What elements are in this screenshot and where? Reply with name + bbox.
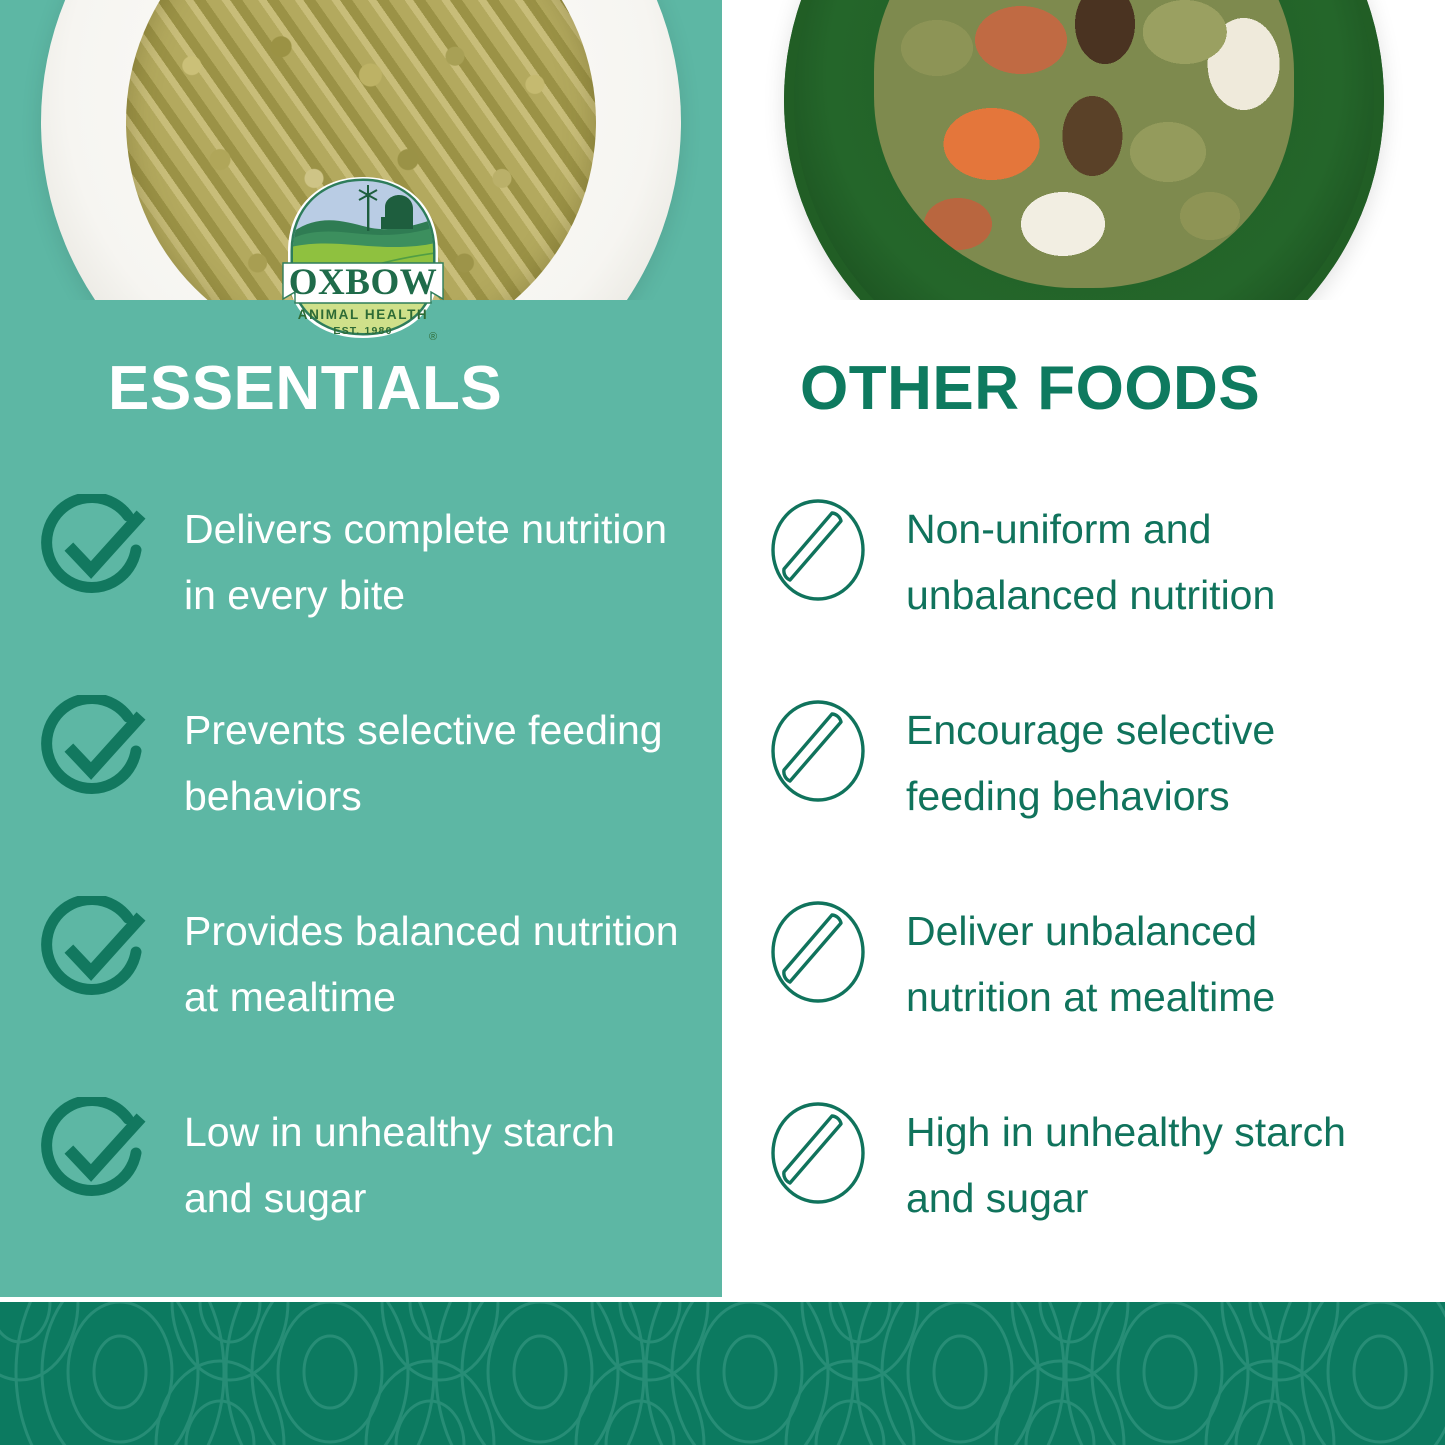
check-circle-icon: [40, 695, 152, 807]
list-item-label: Deliver unbalanced nutrition at mealtime: [906, 898, 1402, 1031]
list-item: Delivers complete nutrition in every bit…: [40, 492, 680, 693]
logo-established: EST. 1980: [333, 325, 392, 337]
list-item-label: Non-uniform and unbalanced nutrition: [906, 496, 1402, 629]
essentials-heading: ESSENTIALS: [108, 358, 502, 420]
photo-row: [0, 0, 1445, 300]
prohibition-icon: [762, 695, 874, 807]
list-item-label: Encourage selective feeding behaviors: [906, 697, 1402, 830]
logo-wordmark: OXBOW: [289, 262, 437, 303]
other-foods-photo: [723, 0, 1445, 300]
prohibition-icon: [762, 1097, 874, 1209]
list-item-label: High in unhealthy starch and sugar: [906, 1099, 1402, 1232]
list-item-label: Low in unhealthy starch and sugar: [184, 1099, 680, 1232]
check-circle-icon: [40, 494, 152, 606]
prohibition-icon: [762, 494, 874, 606]
oxbow-logo: OXBOW ANIMAL HEALTH EST. 1980 ®: [281, 177, 445, 349]
list-item: High in unhealthy starch and sugar: [762, 1095, 1402, 1296]
list-item: Low in unhealthy starch and sugar: [40, 1095, 680, 1296]
registered-mark-icon: ®: [429, 331, 437, 343]
list-item-label: Provides balanced nutrition at mealtime: [184, 898, 680, 1031]
essentials-list: Delivers complete nutrition in every bit…: [40, 492, 680, 1296]
list-item: Deliver unbalanced nutrition at mealtime: [762, 894, 1402, 1095]
bottom-pattern-band: [0, 1302, 1445, 1445]
check-circle-icon: [40, 1097, 152, 1209]
other-foods-list: Non-uniform and unbalanced nutrition Enc…: [762, 492, 1402, 1296]
prohibition-icon: [762, 896, 874, 1008]
list-item-label: Delivers complete nutrition in every bit…: [184, 496, 680, 629]
list-item: Encourage selective feeding behaviors: [762, 693, 1402, 894]
comparison-infographic: OXBOW ANIMAL HEALTH EST. 1980 ® ESSENTIA…: [0, 0, 1445, 1445]
list-item: Non-uniform and unbalanced nutrition: [762, 492, 1402, 693]
green-bowl-with-muesli: [784, 0, 1384, 300]
logo-tagline: ANIMAL HEALTH: [298, 307, 429, 322]
list-item-label: Prevents selective feeding behaviors: [184, 697, 680, 830]
list-item: Provides balanced nutrition at mealtime: [40, 894, 680, 1095]
check-circle-icon: [40, 896, 152, 1008]
other-foods-heading: OTHER FOODS: [800, 358, 1260, 420]
list-item: Prevents selective feeding behaviors: [40, 693, 680, 894]
